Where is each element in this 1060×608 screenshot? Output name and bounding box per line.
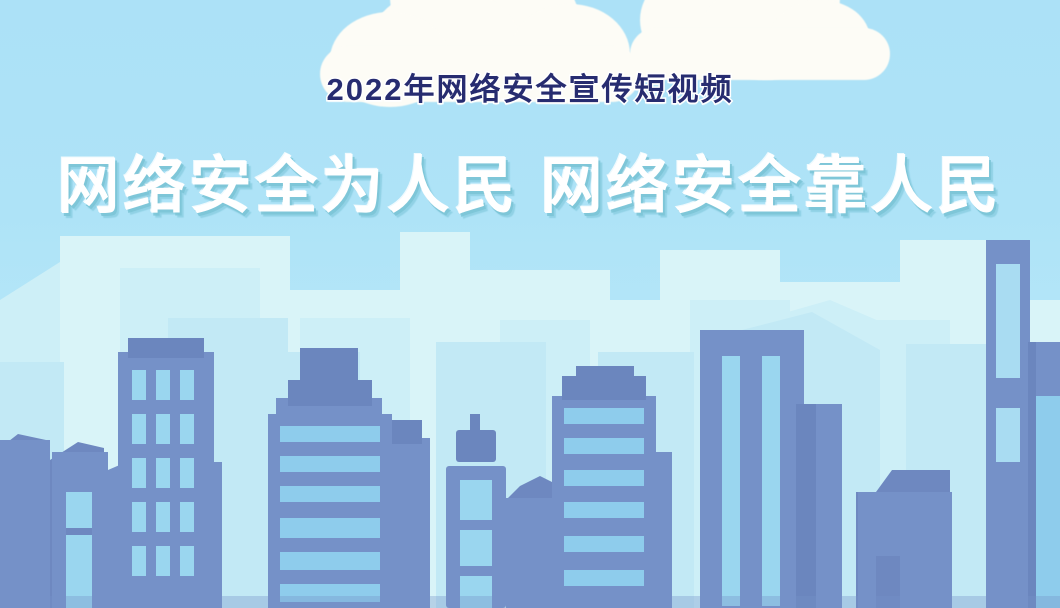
poster-headline: 网络安全为人民 网络安全靠人民 bbox=[0, 109, 1060, 225]
poster-canvas: 2022年网络安全宣传短视频 网络安全为人民 网络安全靠人民 bbox=[0, 0, 1060, 608]
poster-text-block: 2022年网络安全宣传短视频 网络安全为人民 网络安全靠人民 bbox=[0, 0, 1060, 225]
poster-subtitle: 2022年网络安全宣传短视频 bbox=[0, 0, 1060, 109]
